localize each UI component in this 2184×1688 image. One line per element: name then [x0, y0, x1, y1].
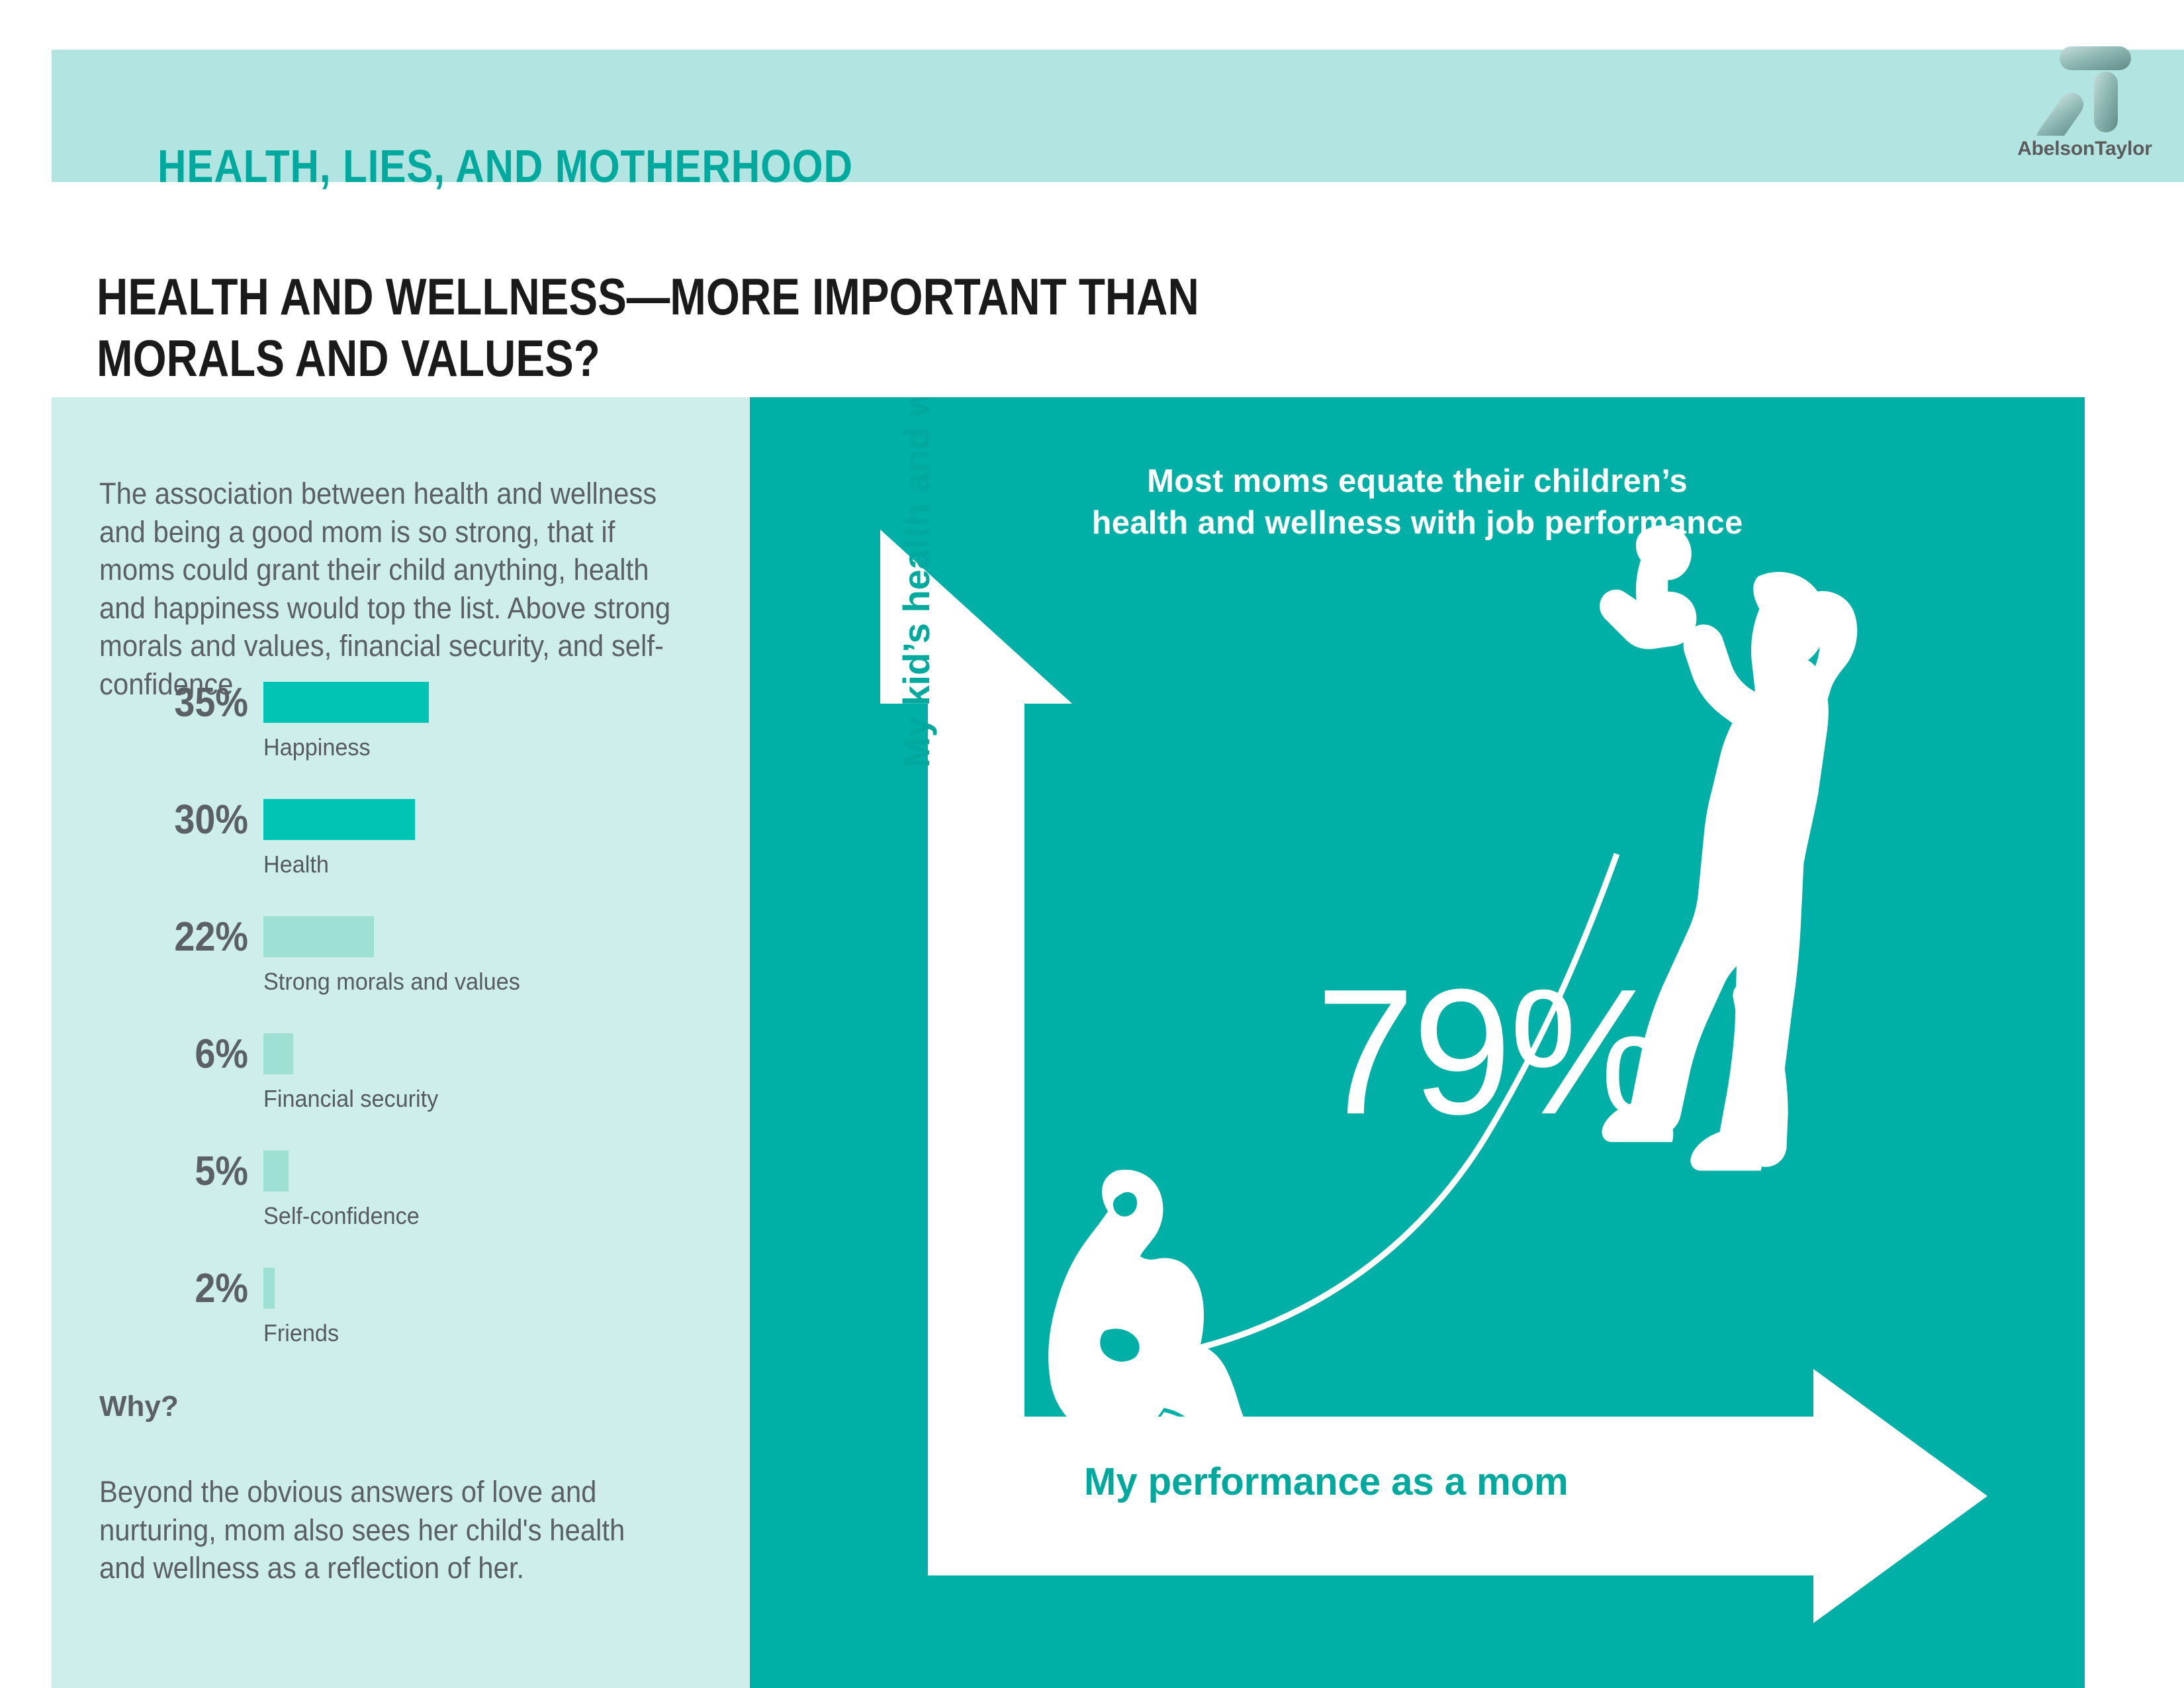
left-panel: The association between health and welln… — [52, 397, 750, 1688]
bar-value-label: 6% — [105, 1031, 248, 1078]
bar-row: 2% Friends — [52, 1268, 750, 1385]
bar-rect — [263, 1033, 293, 1074]
abelsontaylor-capsule-logo-icon — [2030, 26, 2136, 136]
bar-category-label: Self-confidence — [263, 1202, 420, 1230]
why-heading: Why? — [99, 1390, 179, 1423]
bar-category-label: Financial security — [263, 1085, 438, 1113]
bar-category-label: Friends — [263, 1319, 339, 1347]
bar-rect — [263, 916, 374, 957]
bar-category-label: Health — [263, 851, 329, 878]
priorities-bar-chart: 35% Happiness 30% Health 22% Strong mora… — [52, 682, 750, 1385]
big-stat-percentage: 79% — [1316, 963, 1665, 1142]
x-axis-label: My performance as a mom — [1084, 1460, 1569, 1504]
bar-row: 30% Health — [52, 799, 750, 916]
bar-value-label: 35% — [105, 679, 248, 726]
bar-row: 5% Self-confidence — [52, 1150, 750, 1268]
bar-rect — [263, 799, 415, 840]
bar-row: 35% Happiness — [52, 682, 750, 799]
header-bar: HEALTH, LIES, AND MOTHERHOOD — [52, 50, 2184, 182]
header-kicker-title: HEALTH, LIES, AND MOTHERHOOD — [158, 140, 853, 193]
intro-paragraph: The association between health and welln… — [99, 475, 690, 704]
bar-row: 22% Strong morals and values — [52, 916, 750, 1033]
bar-value-label: 22% — [105, 914, 248, 961]
bar-rect — [263, 682, 429, 723]
page-title: HEALTH AND WELLNESS—MORE IMPORTANT THAN … — [97, 266, 1208, 389]
bar-value-label: 30% — [105, 796, 248, 843]
bar-value-label: 5% — [105, 1148, 248, 1195]
bar-rect — [263, 1150, 289, 1192]
abelsontaylor-logo: AbelsonTaylor — [2005, 26, 2164, 179]
bar-value-label: 2% — [105, 1265, 248, 1312]
y-axis-label: My kid’s health and wellness — [895, 397, 938, 768]
bar-category-label: Happiness — [263, 733, 371, 761]
bar-category-label: Strong morals and values — [263, 968, 520, 996]
why-paragraph: Beyond the obvious answers of love and n… — [99, 1473, 653, 1587]
right-panel: Most moms equate their children’s health… — [750, 397, 2085, 1688]
bar-row: 6% Financial security — [52, 1033, 750, 1150]
logo-wordmark: AbelsonTaylor — [2005, 138, 2164, 160]
bar-rect — [263, 1268, 275, 1309]
